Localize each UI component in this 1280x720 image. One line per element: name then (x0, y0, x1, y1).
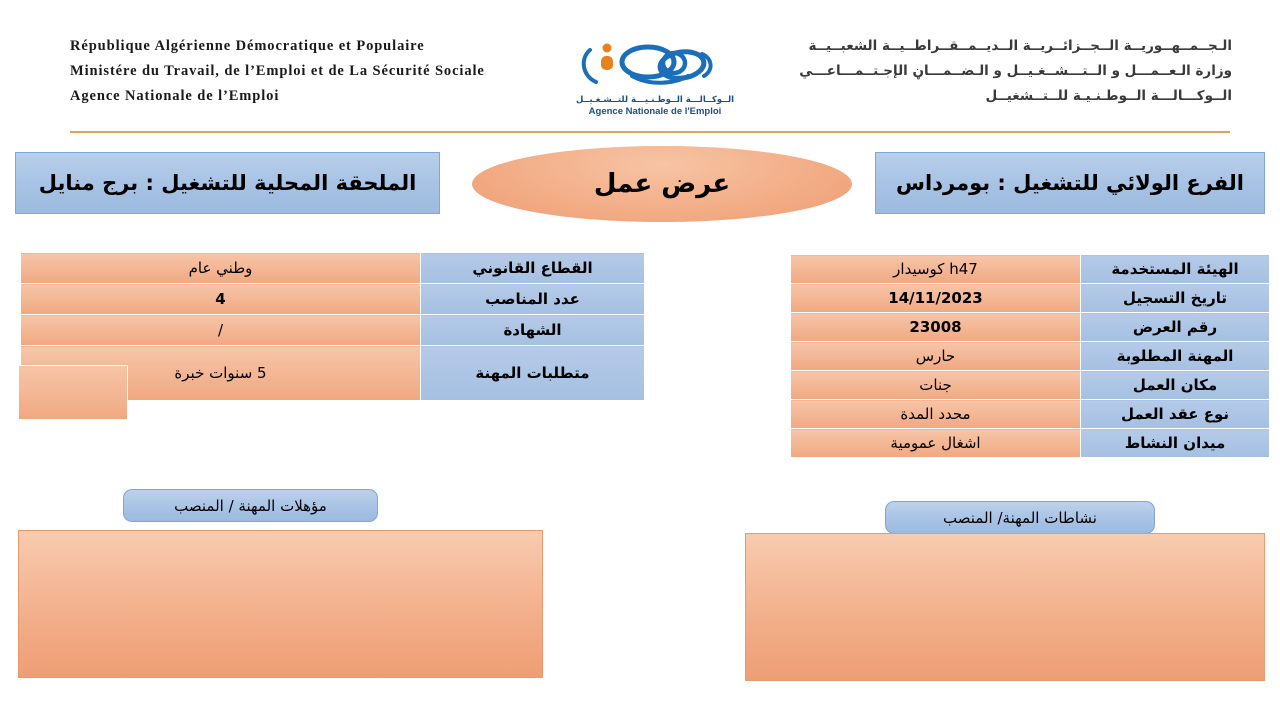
row-value: 14/11/2023 (791, 284, 1081, 313)
row-value: وطني عام (21, 253, 421, 284)
header-french-text: République Algérienne Démocratique et Po… (70, 34, 540, 109)
anem-logo: الــوكــالـــة الــوطـنـيـــة للتــشـغـي… (560, 32, 750, 128)
activities-label: نشاطات المهنة/ المنصب (943, 509, 1097, 527)
offer-details-table: الهيئة المستخدمة h47 كوسيدار تاريخ التسج… (790, 254, 1270, 458)
row-key: نوع عقد العمل (1081, 400, 1270, 429)
header-french-line-3: Agence Nationale de l’Emploi (70, 84, 540, 109)
header-arabic-line-3: الــوكـــالـــة الــوطـنـيـة للــتــشغيـ… (752, 84, 1232, 109)
logo-caption-french: Agence Nationale de l'Emploi (560, 106, 750, 117)
row-value: حارس (791, 342, 1081, 371)
row-key: تاريخ التسجيل (1081, 284, 1270, 313)
header-arabic-line-1: الـجــمــهــوريــة الــجــزائــريــة الـ… (752, 34, 1232, 59)
table-row: ميدان النشاط اشغال عمومية (791, 429, 1270, 458)
row-value: اشغال عمومية (791, 429, 1081, 458)
header-french-line-2: Ministére du Travail, de l’Emploi et de … (70, 59, 540, 84)
wilaya-office-banner: الفرع الولائي للتشغيل : بومرداس (875, 152, 1265, 214)
table-row: نوع عقد العمل محدد المدة (791, 400, 1270, 429)
document-header: République Algérienne Démocratique et Po… (0, 0, 1280, 133)
row-key: الشهادة (421, 315, 645, 346)
header-divider (70, 131, 1230, 133)
table-row: الشهادة / (21, 315, 645, 346)
local-office-label: الملحقة المحلية للتشغيل : برج منايل (39, 171, 417, 195)
wilaya-office-label: الفرع الولائي للتشغيل : بومرداس (896, 171, 1244, 195)
row-key: القطاع القانوني (421, 253, 645, 284)
logo-caption-arabic: الــوكــالـــة الــوطـنـيـــة للتــشـغـي… (560, 95, 750, 105)
local-office-banner: الملحقة المحلية للتشغيل : برج منايل (15, 152, 440, 214)
anem-logo-mark (570, 32, 740, 94)
activities-tab: نشاطات المهنة/ المنصب (885, 501, 1155, 534)
header-arabic-text: الـجــمــهــوريــة الــجــزائــريــة الـ… (752, 34, 1232, 109)
table-row: القطاع القانوني وطني عام (21, 253, 645, 284)
row-value: 4 (21, 284, 421, 315)
page-title: عرض عمل (594, 169, 730, 199)
row-key: متطلبات المهنة (421, 346, 645, 401)
header-french-line-1: République Algérienne Démocratique et Po… (70, 34, 540, 59)
row-value: محدد المدة (791, 400, 1081, 429)
qualifications-tab: مؤهلات المهنة / المنصب (123, 489, 378, 522)
row-key: رقم العرض (1081, 313, 1270, 342)
table-row: عدد المناصب 4 (21, 284, 645, 315)
row-key: ميدان النشاط (1081, 429, 1270, 458)
qualifications-content-box[interactable] (18, 530, 543, 678)
row-key: عدد المناصب (421, 284, 645, 315)
table-row: الهيئة المستخدمة h47 كوسيدار (791, 255, 1270, 284)
table-row: مكان العمل جنات (791, 371, 1270, 400)
qualifications-label: مؤهلات المهنة / المنصب (174, 497, 327, 515)
row-value: / (21, 315, 421, 346)
row-value: h47 كوسيدار (791, 255, 1081, 284)
document-title-ellipse: عرض عمل (472, 146, 852, 222)
table-row: رقم العرض 23008 (791, 313, 1270, 342)
row-key: الهيئة المستخدمة (1081, 255, 1270, 284)
row-value: 23008 (791, 313, 1081, 342)
table-row: تاريخ التسجيل 14/11/2023 (791, 284, 1270, 313)
row-key: المهنة المطلوبة (1081, 342, 1270, 371)
header-arabic-line-2: وزارة الـعــمـــل و الــتـــشــغـيــل و … (752, 59, 1232, 84)
activities-content-box[interactable] (745, 533, 1265, 681)
row-value: جنات (791, 371, 1081, 400)
table-row: المهنة المطلوبة حارس (791, 342, 1270, 371)
requirements-row-extension (18, 365, 128, 420)
row-key: مكان العمل (1081, 371, 1270, 400)
